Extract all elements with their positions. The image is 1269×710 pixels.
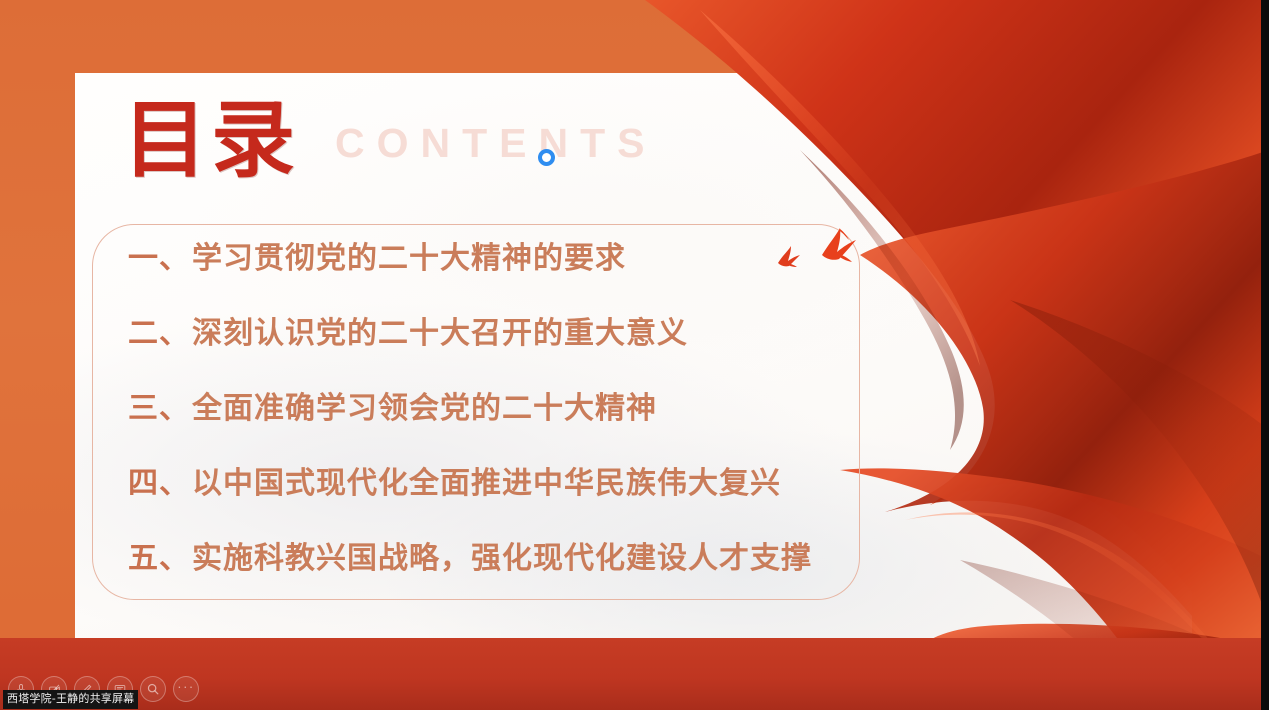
list-item-label: 全面准确学习领会党的二十大精神 xyxy=(192,383,657,427)
list-item: 二、 深刻认识党的二十大召开的重大意义 xyxy=(128,308,888,383)
contents-list: 一、 学习贯彻党的二十大精神的要求 二、 深刻认识党的二十大召开的重大意义 三、… xyxy=(128,233,888,608)
list-item-number: 二、 xyxy=(128,308,190,352)
more-options-icon[interactable]: ··· xyxy=(173,676,199,702)
window-right-edge xyxy=(1261,0,1265,710)
search-magnifier-icon[interactable] xyxy=(140,676,166,702)
shared-screen-viewport: 目录 CONTENTS 一、 学习贯彻党的二十大精神的要求 二、 深刻认识党的二… xyxy=(0,0,1269,710)
list-item-label: 以中国式现代化全面推进中华民族伟大复兴 xyxy=(192,458,781,502)
list-item-number: 五、 xyxy=(128,533,190,577)
list-item-label: 实施科教兴国战略，强化现代化建设人才支撑 xyxy=(192,533,812,577)
list-item-label: 深刻认识党的二十大召开的重大意义 xyxy=(192,308,688,352)
blue-ring-cursor-icon xyxy=(538,149,555,166)
list-item-number: 四、 xyxy=(128,458,190,502)
list-item-label: 学习贯彻党的二十大精神的要求 xyxy=(192,233,626,277)
list-item: 三、 全面准确学习领会党的二十大精神 xyxy=(128,383,888,458)
slide-title-block: 目录 CONTENTS xyxy=(123,98,657,182)
list-item: 五、 实施科教兴国战略，强化现代化建设人才支撑 xyxy=(128,533,888,608)
shared-screen-label: 西塔学院-王静的共享屏幕 xyxy=(3,690,138,709)
more-options-label: ··· xyxy=(177,680,195,693)
list-item-number: 一、 xyxy=(128,233,190,277)
list-item: 四、 以中国式现代化全面推进中华民族伟大复兴 xyxy=(128,458,888,533)
list-item-number: 三、 xyxy=(128,383,190,427)
list-item: 一、 学习贯彻党的二十大精神的要求 xyxy=(128,233,888,308)
page-title-en: CONTENTS xyxy=(335,120,657,167)
page-title-cn: 目录 xyxy=(123,98,299,182)
